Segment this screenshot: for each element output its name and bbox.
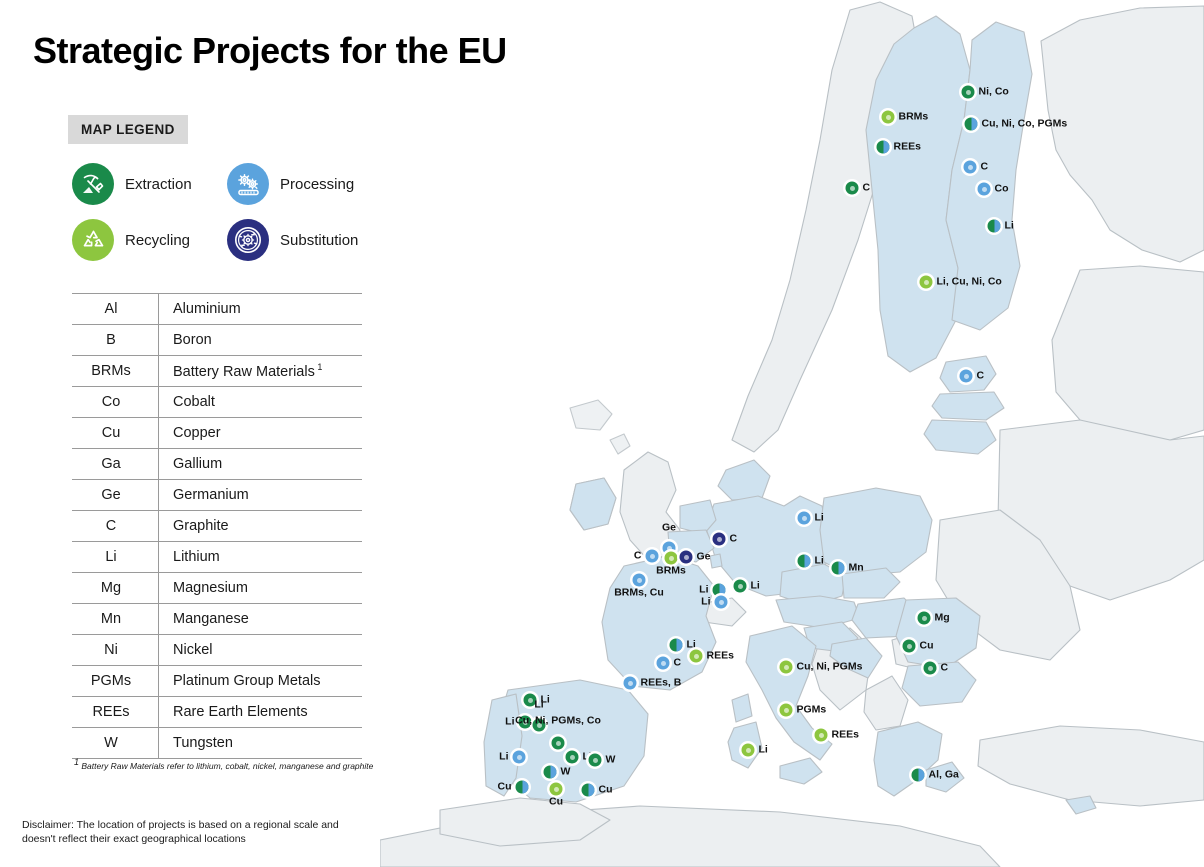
marker-label: C	[941, 662, 949, 674]
map-marker[interactable]: Ge	[680, 551, 693, 564]
marker-dot-split	[832, 562, 845, 575]
marker-label: Cu, Ni, Co, PGMs	[982, 118, 1068, 130]
abbreviation-code: Co	[72, 387, 159, 418]
marker-label: Li	[499, 751, 508, 763]
abbreviation-name: Lithium	[159, 542, 363, 573]
legend-label-processing: Processing	[280, 176, 354, 193]
marker-label: Li	[505, 716, 514, 728]
marker-label: Li	[815, 512, 824, 524]
marker-dot-extraction	[962, 86, 975, 99]
map-marker[interactable]: C	[846, 182, 859, 195]
map-marker[interactable]: Al, Ga	[912, 769, 925, 782]
abbreviation-name: Graphite	[159, 511, 363, 542]
map-marker[interactable]: Li	[513, 751, 526, 764]
map-marker[interactable]: Cu	[582, 784, 595, 797]
map-marker[interactable]: Li	[742, 744, 755, 757]
marker-dot-extraction	[903, 640, 916, 653]
map-marker[interactable]: BRMs	[882, 111, 895, 124]
map-marker[interactable]: Mg	[918, 612, 931, 625]
marker-dot-extraction	[566, 751, 579, 764]
page-title: Strategic Projects for the EU	[33, 30, 507, 72]
abbreviation-row: GaGallium	[72, 449, 362, 480]
legend-label-recycling: Recycling	[125, 232, 190, 249]
marker-label: C	[977, 370, 985, 382]
abbreviation-row: GeGermanium	[72, 480, 362, 511]
map-marker[interactable]: Cu	[903, 640, 916, 653]
legend-item-extraction: Extraction	[72, 163, 227, 205]
abbreviation-code: W	[72, 728, 159, 759]
marker-dot-extraction	[924, 662, 937, 675]
abbreviation-row: CuCopper	[72, 418, 362, 449]
abbreviation-row: CGraphite	[72, 511, 362, 542]
abbreviation-row: AlAluminium	[72, 294, 362, 325]
abbreviation-name: Germanium	[159, 480, 363, 511]
disclaimer-text: Disclaimer: The location of projects is …	[22, 818, 352, 846]
footnote-marker: 1	[315, 362, 323, 372]
map-marker[interactable]: Mn	[832, 562, 845, 575]
marker-dot-processing	[513, 751, 526, 764]
marker-dot-split	[582, 784, 595, 797]
map-marker[interactable]: W	[589, 754, 602, 767]
marker-label: C	[863, 182, 871, 194]
pickaxe-icon	[72, 163, 114, 205]
marker-label: Cu	[599, 784, 613, 796]
abbreviation-name: Cobalt	[159, 387, 363, 418]
marker-label: Li	[759, 744, 768, 756]
legend-label-extraction: Extraction	[125, 176, 192, 193]
marker-label: Cu, Ni, PGMs	[797, 661, 863, 673]
marker-dot-split	[988, 220, 1001, 233]
marker-dot-split	[670, 639, 683, 652]
map-marker[interactable]: Cu	[516, 781, 529, 794]
marker-dot-extraction	[589, 754, 602, 767]
marker-label: C	[674, 657, 682, 669]
map-marker[interactable]: REEs	[877, 141, 890, 154]
map-marker[interactable]: PGMs	[780, 704, 793, 717]
marker-dot-processing	[715, 596, 728, 609]
marker-dot-split	[965, 118, 978, 131]
marker-label: C	[634, 550, 642, 562]
marker-dot-processing	[964, 161, 977, 174]
map-marker[interactable]: Cu, Ni, PGMs, Co	[552, 737, 565, 750]
marker-dot-extraction	[918, 612, 931, 625]
map-marker[interactable]: Li	[715, 596, 728, 609]
map-marker[interactable]: Li	[670, 639, 683, 652]
abbreviation-name: Platinum Group Metals	[159, 666, 363, 697]
marker-dot-recycling	[815, 729, 828, 742]
abbreviation-code: Cu	[72, 418, 159, 449]
map-marker[interactable]: Cu, Ni, Co, PGMs	[965, 118, 978, 131]
marker-label: PGMs	[797, 704, 827, 716]
marker-dot-split	[544, 766, 557, 779]
map-marker[interactable]: BRMs	[665, 552, 678, 565]
map-marker[interactable]: W	[544, 766, 557, 779]
map-marker[interactable]: C	[964, 161, 977, 174]
marker-dot-recycling	[665, 552, 678, 565]
abbreviation-code: Ni	[72, 635, 159, 666]
marker-label: Cu	[498, 781, 512, 793]
abbreviation-code: Li	[72, 542, 159, 573]
abbreviation-code: C	[72, 511, 159, 542]
marker-dot-split	[798, 555, 811, 568]
abbreviation-name: Magnesium	[159, 573, 363, 604]
substitution-icon	[227, 219, 269, 261]
marker-dot-processing	[624, 677, 637, 690]
marker-dot-substitution	[713, 533, 726, 546]
marker-label: Co	[995, 183, 1009, 195]
marker-label: Li	[1005, 220, 1014, 232]
marker-dot-recycling	[882, 111, 895, 124]
marker-dot-extraction	[734, 580, 747, 593]
marker-dot-split	[516, 781, 529, 794]
abbreviation-row: LiLithium	[72, 542, 362, 573]
marker-dot-recycling	[780, 704, 793, 717]
map-marker[interactable]: REEs, B	[624, 677, 637, 690]
abbreviations-table: AlAluminiumBBoronBRMsBattery Raw Materia…	[72, 293, 362, 759]
abbreviation-code: PGMs	[72, 666, 159, 697]
marker-label: C	[981, 161, 989, 173]
marker-label: Li	[751, 580, 760, 592]
legend-item-processing: Processing	[227, 163, 382, 205]
abbreviation-name: Tungsten	[159, 728, 363, 759]
marker-label: Li	[699, 584, 708, 596]
footnote-marker: 1	[74, 757, 79, 767]
abbreviation-row: BRMsBattery Raw Materials 1	[72, 356, 362, 387]
abbreviation-name: Rare Earth Elements	[159, 697, 363, 728]
marker-dot-processing	[798, 512, 811, 525]
abbreviation-row: MgMagnesium	[72, 573, 362, 604]
marker-label: Li	[815, 555, 824, 567]
marker-dot-extraction	[552, 737, 565, 750]
marker-label: Al, Ga	[929, 769, 959, 781]
abbreviation-code: Al	[72, 294, 159, 325]
recycle-icon	[72, 219, 114, 261]
marker-label: Li	[701, 596, 710, 608]
marker-label: Ni, Co	[979, 86, 1009, 98]
map-marker[interactable]: C	[924, 662, 937, 675]
marker-dot-processing	[978, 183, 991, 196]
map-marker[interactable]: Li	[798, 512, 811, 525]
marker-label: W	[606, 754, 616, 766]
marker-dot-substitution	[680, 551, 693, 564]
abbreviation-name: Nickel	[159, 635, 363, 666]
abbreviation-name: Boron	[159, 325, 363, 356]
map-marker[interactable]: Li	[734, 580, 747, 593]
map-marker[interactable]: Li	[566, 751, 579, 764]
footnote-brms: 1 Battery Raw Materials refer to lithium…	[74, 757, 374, 771]
marker-label: Cu, Ni, PGMs, Co	[515, 716, 601, 728]
marker-label: Ge	[697, 551, 711, 563]
marker-label: BRMs, Cu	[614, 588, 664, 600]
abbreviation-row: WTungsten	[72, 728, 362, 759]
abbreviation-code: BRMs	[72, 356, 159, 387]
marker-dot-split	[912, 769, 925, 782]
abbreviation-row: CoCobalt	[72, 387, 362, 418]
marker-label: Ge	[662, 523, 676, 535]
map-marker[interactable]: Li, Cu, Ni, Co	[920, 276, 933, 289]
marker-label: REEs	[894, 141, 921, 153]
marker-label: Mg	[935, 612, 950, 624]
map-marker[interactable]: C	[646, 550, 659, 563]
marker-dot-recycling	[780, 661, 793, 674]
abbreviation-row: PGMsPlatinum Group Metals	[72, 666, 362, 697]
legend-label-substitution: Substitution	[280, 232, 358, 249]
marker-label: Cu	[549, 797, 563, 809]
map-marker[interactable]: Cu, Ni, PGMs	[780, 661, 793, 674]
abbreviation-row: REEsRare Earth Elements	[72, 697, 362, 728]
marker-dot-recycling	[550, 783, 563, 796]
marker-dot-processing	[646, 550, 659, 563]
abbreviation-code: Ga	[72, 449, 159, 480]
map-marker[interactable]: C	[713, 533, 726, 546]
abbreviation-name: Gallium	[159, 449, 363, 480]
gears-icon	[227, 163, 269, 205]
marker-label: W	[561, 766, 571, 778]
map-marker[interactable]: C	[657, 657, 670, 670]
marker-label: REEs, B	[641, 677, 682, 689]
marker-dot-recycling	[742, 744, 755, 757]
marker-dot-extraction	[846, 182, 859, 195]
marker-label: REEs	[832, 729, 859, 741]
map-legend: Extraction Proce	[72, 163, 382, 275]
abbreviation-name: Battery Raw Materials 1	[159, 356, 363, 387]
map-marker[interactable]: Co	[978, 183, 991, 196]
map-marker[interactable]: REEs	[815, 729, 828, 742]
marker-dot-processing	[960, 370, 973, 383]
map-marker[interactable]: Ni, Co	[962, 86, 975, 99]
map-marker[interactable]: BRMs, Cu	[633, 574, 646, 587]
marker-label: BRMs	[899, 111, 929, 123]
abbreviation-name: Manganese	[159, 604, 363, 635]
abbreviation-name: Aluminium	[159, 294, 363, 325]
abbreviation-code: REEs	[72, 697, 159, 728]
legend-item-recycling: Recycling	[72, 219, 227, 261]
abbreviation-row: NiNickel	[72, 635, 362, 666]
map-marker[interactable]: Cu	[550, 783, 563, 796]
abbreviation-row: MnManganese	[72, 604, 362, 635]
abbreviation-code: Ge	[72, 480, 159, 511]
map-marker[interactable]: C	[960, 370, 973, 383]
marker-dot-recycling	[920, 276, 933, 289]
abbreviation-code: Mg	[72, 573, 159, 604]
europe-map: Ni, CoBRMsCu, Ni, Co, PGMsREEsCCCoLiLi, …	[380, 0, 1204, 867]
marker-label: Cu	[920, 640, 934, 652]
marker-label: Li, Cu, Ni, Co	[937, 276, 1002, 288]
map-basemap	[380, 0, 1204, 867]
marker-dot-processing	[633, 574, 646, 587]
marker-label: REEs	[707, 650, 734, 662]
map-legend-chip: MAP LEGEND	[68, 115, 188, 144]
legend-item-substitution: Substitution	[227, 219, 382, 261]
abbreviation-code: Mn	[72, 604, 159, 635]
marker-dot-split	[877, 141, 890, 154]
map-marker[interactable]: Li	[798, 555, 811, 568]
map-marker[interactable]: Li	[988, 220, 1001, 233]
abbreviation-code: B	[72, 325, 159, 356]
marker-label: Mn	[849, 562, 864, 574]
marker-dot-recycling	[690, 650, 703, 663]
abbreviation-name: Copper	[159, 418, 363, 449]
marker-label: Li	[534, 700, 543, 712]
map-marker[interactable]: REEs	[690, 650, 703, 663]
abbreviation-row: BBoron	[72, 325, 362, 356]
marker-dot-processing	[657, 657, 670, 670]
marker-label: BRMs	[656, 566, 686, 578]
marker-label: C	[730, 533, 738, 545]
